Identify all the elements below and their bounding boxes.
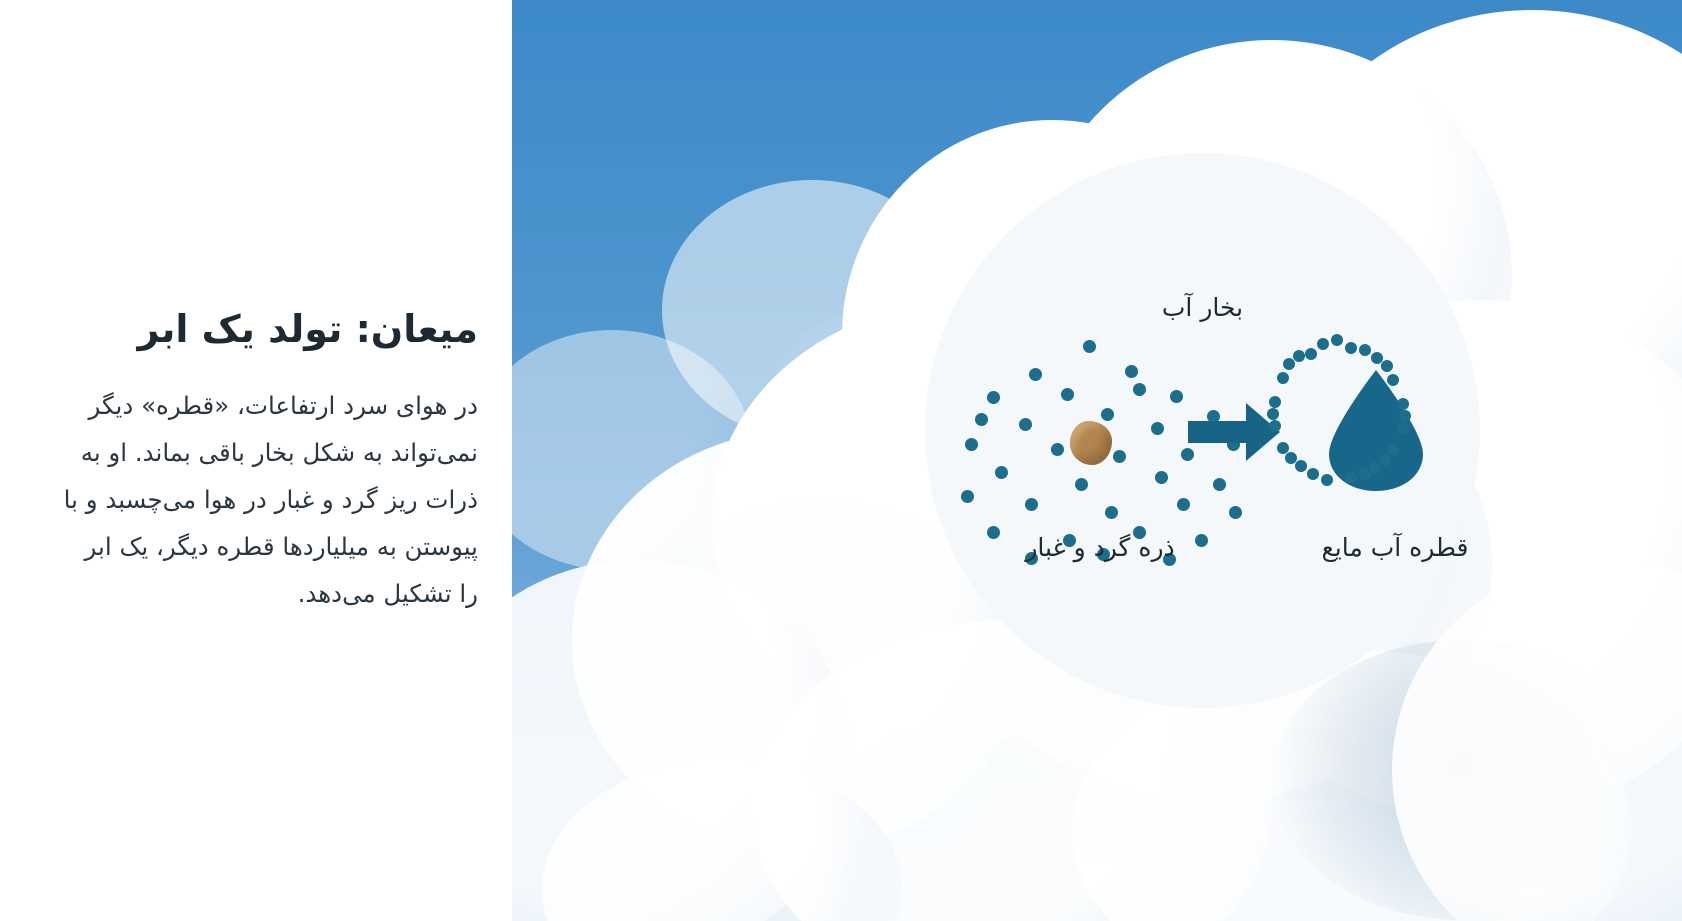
droplet-label: قطره آب مایع	[1225, 533, 1565, 562]
water-droplet-icon	[1327, 368, 1425, 493]
cloud-photo-background: بخار آب	[512, 0, 1682, 921]
vapor-label: بخار آب	[925, 293, 1480, 322]
dust-particle-icon	[1070, 421, 1112, 465]
liquid-droplet-group	[1275, 338, 1475, 538]
transition-arrow-icon	[1188, 401, 1280, 463]
dust-label: ذره گرد و غبار	[935, 533, 1265, 562]
slide-title: میعان: تولد یک ابر	[60, 304, 478, 355]
condensation-diagram: بخار آب	[925, 153, 1480, 708]
slide: بخار آب	[0, 0, 1682, 921]
text-panel: میعان: تولد یک ابر در هوای سرد ارتفاعات،…	[0, 0, 512, 921]
slide-body-text: در هوای سرد ارتفاعات، «قطره» دیگر نمی‌تو…	[60, 382, 478, 617]
